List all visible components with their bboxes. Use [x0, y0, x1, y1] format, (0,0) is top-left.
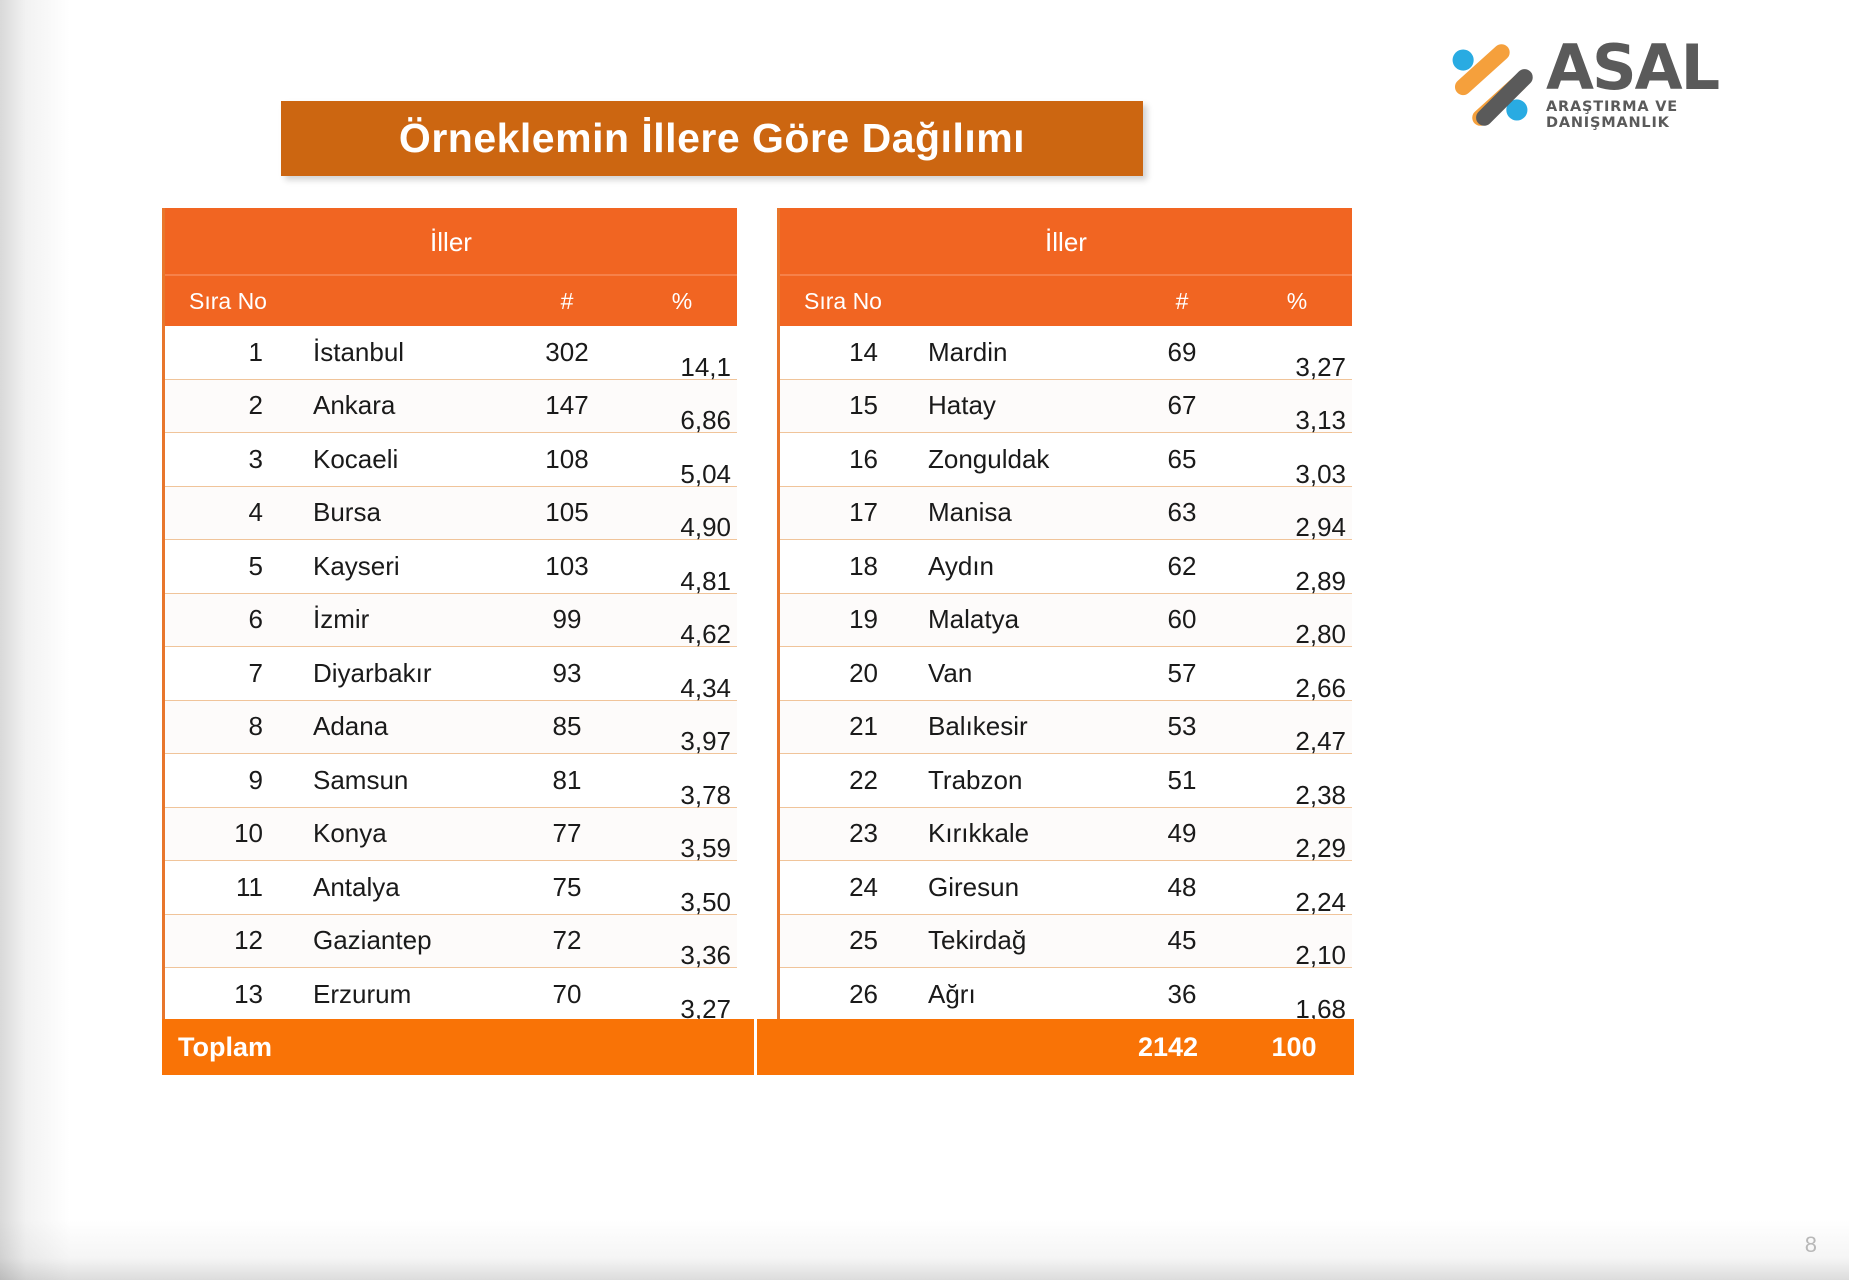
row-sira-no: 22: [780, 765, 920, 796]
row-percent: 3,50: [627, 887, 737, 918]
row-sira-no: 13: [165, 979, 305, 1010]
column-header-count: #: [1122, 288, 1242, 315]
row-percent: 3,27: [1242, 352, 1352, 383]
row-city: Bursa: [305, 497, 507, 528]
row-city: Manisa: [920, 497, 1122, 528]
table-row: 17Manisa632,94: [780, 487, 1352, 541]
page-title: Örneklemin İllere Göre Dağılımı: [399, 115, 1025, 162]
table-row: 19Malatya602,80: [780, 594, 1352, 648]
row-count: 103: [507, 551, 627, 582]
row-percent: 2,24: [1242, 887, 1352, 918]
table-right: İller Sıra No # % 14Mardin693,2715Hatay6…: [777, 208, 1352, 1022]
column-header-sira-no: Sıra No: [165, 288, 305, 315]
table-row: 22Trabzon512,38: [780, 754, 1352, 808]
table-row: 23Kırıkkale492,29: [780, 808, 1352, 862]
row-count: 53: [1122, 711, 1242, 742]
column-header-percent: %: [627, 288, 737, 315]
row-sira-no: 24: [780, 872, 920, 903]
row-count: 81: [507, 765, 627, 796]
row-percent: 4,81: [627, 566, 737, 597]
row-sira-no: 1: [165, 337, 305, 368]
row-sira-no: 4: [165, 497, 305, 528]
table-row: 12Gaziantep723,36: [165, 915, 737, 969]
row-sira-no: 15: [780, 390, 920, 421]
table-row: 25Tekirdağ452,10: [780, 915, 1352, 969]
row-count: 75: [507, 872, 627, 903]
table-row: 5Kayseri1034,81: [165, 540, 737, 594]
row-count: 62: [1122, 551, 1242, 582]
row-count: 36: [1122, 979, 1242, 1010]
row-percent: 2,38: [1242, 780, 1352, 811]
row-count: 45: [1122, 925, 1242, 956]
row-percent: 2,66: [1242, 673, 1352, 704]
row-percent: 5,04: [627, 459, 737, 490]
row-count: 147: [507, 390, 627, 421]
total-label: Toplam: [162, 1032, 272, 1063]
row-count: 77: [507, 818, 627, 849]
table-row: 11Antalya753,50: [165, 861, 737, 915]
row-city: Kayseri: [305, 551, 507, 582]
slide-title-banner: Örneklemin İllere Göre Dağılımı: [281, 101, 1143, 176]
table-row: 13Erzurum703,27: [165, 968, 737, 1022]
row-percent: 6,86: [627, 405, 737, 436]
row-count: 60: [1122, 604, 1242, 635]
row-percent: 3,13: [1242, 405, 1352, 436]
row-city: Balıkesir: [920, 711, 1122, 742]
row-sira-no: 10: [165, 818, 305, 849]
row-sira-no: 21: [780, 711, 920, 742]
row-sira-no: 5: [165, 551, 305, 582]
row-sira-no: 20: [780, 658, 920, 689]
row-city: Tekirdağ: [920, 925, 1122, 956]
table-row: 9Samsun813,78: [165, 754, 737, 808]
row-percent: 2,80: [1242, 619, 1352, 650]
tables-container: İller Sıra No # % 1İstanbul30214,12Ankar…: [162, 208, 1352, 1078]
column-header-count: #: [507, 288, 627, 315]
row-city: Hatay: [920, 390, 1122, 421]
row-city: Trabzon: [920, 765, 1122, 796]
table-right-header-row: Sıra No # %: [780, 276, 1352, 326]
row-sira-no: 12: [165, 925, 305, 956]
table-left: İller Sıra No # % 1İstanbul30214,12Ankar…: [162, 208, 737, 1022]
row-city: Erzurum: [305, 979, 507, 1010]
table-row: 2Ankara1476,86: [165, 380, 737, 434]
table-row: 8Adana853,97: [165, 701, 737, 755]
row-percent: 2,10: [1242, 940, 1352, 971]
table-left-title: İller: [165, 208, 737, 276]
table-row: 14Mardin693,27: [780, 326, 1352, 380]
table-row: 10Konya773,59: [165, 808, 737, 862]
row-city: Gaziantep: [305, 925, 507, 956]
table-row: 7Diyarbakır934,34: [165, 647, 737, 701]
row-sira-no: 16: [780, 444, 920, 475]
row-percent: 3,03: [1242, 459, 1352, 490]
row-city: Ankara: [305, 390, 507, 421]
row-city: Antalya: [305, 872, 507, 903]
row-percent: 14,1: [627, 352, 737, 383]
table-row: 20Van572,66: [780, 647, 1352, 701]
row-count: 63: [1122, 497, 1242, 528]
row-percent: 2,94: [1242, 512, 1352, 543]
row-city: Ağrı: [920, 979, 1122, 1010]
row-city: Kocaeli: [305, 444, 507, 475]
row-count: 69: [1122, 337, 1242, 368]
row-sira-no: 23: [780, 818, 920, 849]
row-sira-no: 8: [165, 711, 305, 742]
total-percent: 100: [1234, 1032, 1354, 1063]
row-sira-no: 14: [780, 337, 920, 368]
row-sira-no: 18: [780, 551, 920, 582]
table-left-body: 1İstanbul30214,12Ankara1476,863Kocaeli10…: [165, 326, 737, 1022]
table-left-header-row: Sıra No # %: [165, 276, 737, 326]
row-percent: 2,47: [1242, 726, 1352, 757]
table-row: 6İzmir994,62: [165, 594, 737, 648]
table-row: 15Hatay673,13: [780, 380, 1352, 434]
row-city: Samsun: [305, 765, 507, 796]
row-city: Zonguldak: [920, 444, 1122, 475]
asal-logo: ASAL ARAŞTIRMA VE DANIŞMANLIK: [1442, 30, 1782, 140]
row-sira-no: 9: [165, 765, 305, 796]
table-row: 26Ağrı361,68: [780, 968, 1352, 1022]
total-row: Toplam 2142 100: [162, 1019, 1354, 1075]
row-count: 65: [1122, 444, 1242, 475]
total-count: 2142: [1102, 1032, 1234, 1063]
row-count: 70: [507, 979, 627, 1010]
row-count: 302: [507, 337, 627, 368]
row-sira-no: 2: [165, 390, 305, 421]
table-row: 3Kocaeli1085,04: [165, 433, 737, 487]
row-sira-no: 3: [165, 444, 305, 475]
row-sira-no: 6: [165, 604, 305, 635]
page-number: 8: [1805, 1232, 1817, 1258]
row-sira-no: 17: [780, 497, 920, 528]
row-percent: 3,59: [627, 833, 737, 864]
row-count: 72: [507, 925, 627, 956]
row-percent: 3,36: [627, 940, 737, 971]
row-city: Aydın: [920, 551, 1122, 582]
table-row: 16Zonguldak653,03: [780, 433, 1352, 487]
row-count: 93: [507, 658, 627, 689]
row-count: 57: [1122, 658, 1242, 689]
row-count: 48: [1122, 872, 1242, 903]
table-row: 4Bursa1054,90: [165, 487, 737, 541]
table-right-body: 14Mardin693,2715Hatay673,1316Zonguldak65…: [780, 326, 1352, 1022]
row-sira-no: 19: [780, 604, 920, 635]
row-city: Giresun: [920, 872, 1122, 903]
row-city: Van: [920, 658, 1122, 689]
logo-wordmark: ASAL: [1546, 39, 1718, 98]
row-percent: 3,78: [627, 780, 737, 811]
total-row-divider: [754, 1019, 757, 1075]
row-percent: 3,97: [627, 726, 737, 757]
row-count: 49: [1122, 818, 1242, 849]
table-row: 18Aydın622,89: [780, 540, 1352, 594]
row-percent: 2,89: [1242, 566, 1352, 597]
table-right-title: İller: [780, 208, 1352, 276]
row-sira-no: 26: [780, 979, 920, 1010]
row-percent: 4,90: [627, 512, 737, 543]
row-city: Kırıkkale: [920, 818, 1122, 849]
row-percent: 4,34: [627, 673, 737, 704]
row-count: 105: [507, 497, 627, 528]
logo-tagline: ARAŞTIRMA VE DANIŞMANLIK: [1546, 99, 1782, 131]
row-city: Malatya: [920, 604, 1122, 635]
row-sira-no: 11: [165, 872, 305, 903]
table-row: 24Giresun482,24: [780, 861, 1352, 915]
row-count: 85: [507, 711, 627, 742]
row-percent: 4,62: [627, 619, 737, 650]
row-count: 99: [507, 604, 627, 635]
column-header-percent: %: [1242, 288, 1352, 315]
row-city: Mardin: [920, 337, 1122, 368]
asal-logo-mark-icon: [1442, 37, 1538, 133]
row-count: 67: [1122, 390, 1242, 421]
row-city: Konya: [305, 818, 507, 849]
row-percent: 2,29: [1242, 833, 1352, 864]
row-count: 51: [1122, 765, 1242, 796]
row-city: Diyarbakır: [305, 658, 507, 689]
row-city: İzmir: [305, 604, 507, 635]
table-row: 21Balıkesir532,47: [780, 701, 1352, 755]
row-sira-no: 25: [780, 925, 920, 956]
row-city: İstanbul: [305, 337, 507, 368]
column-header-sira-no: Sıra No: [780, 288, 920, 315]
row-count: 108: [507, 444, 627, 475]
row-city: Adana: [305, 711, 507, 742]
row-sira-no: 7: [165, 658, 305, 689]
table-row: 1İstanbul30214,1: [165, 326, 737, 380]
